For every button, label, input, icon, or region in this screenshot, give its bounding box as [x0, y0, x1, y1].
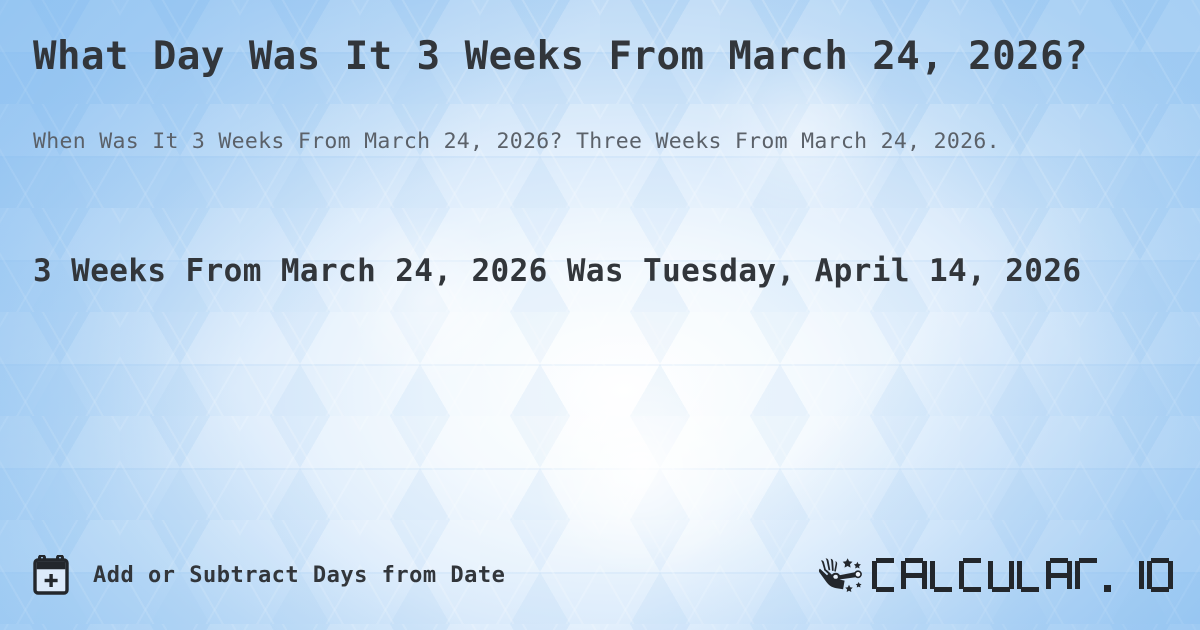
brand-name [872, 558, 1176, 592]
calendar-plus-icon [33, 555, 71, 595]
brand-char-L [930, 558, 956, 592]
page-subtitle: When Was It 3 Weeks From March 24, 2026?… [33, 83, 1143, 160]
brand-logo[interactable] [814, 554, 1176, 596]
brand-char-A [901, 558, 927, 592]
answer-text: 3 Weeks From March 24, 2026 Was Tuesday,… [33, 160, 1167, 294]
brand-char-A2 [1046, 558, 1072, 592]
footer-link-label: Add or Subtract Days from Date [93, 563, 505, 588]
brand-char-U [988, 558, 1014, 592]
page-title: What Day Was It 3 Weeks From March 24, 2… [33, 0, 1093, 83]
brand-char-L2 [1017, 558, 1043, 592]
hand-magic-wand-icon [814, 554, 866, 596]
og-image-card: What Day Was It 3 Weeks From March 24, 2… [0, 0, 1200, 630]
brand-char-C [872, 558, 898, 592]
footer: Add or Subtract Days from Date [33, 550, 1176, 600]
brand-char-C2 [959, 558, 985, 592]
brand-char-I [1118, 558, 1144, 592]
brand-char-dot [1104, 558, 1115, 592]
brand-char-O [1147, 558, 1173, 592]
footer-link[interactable]: Add or Subtract Days from Date [33, 555, 505, 595]
content-area: What Day Was It 3 Weeks From March 24, 2… [0, 0, 1200, 630]
brand-char-T [1075, 558, 1101, 592]
